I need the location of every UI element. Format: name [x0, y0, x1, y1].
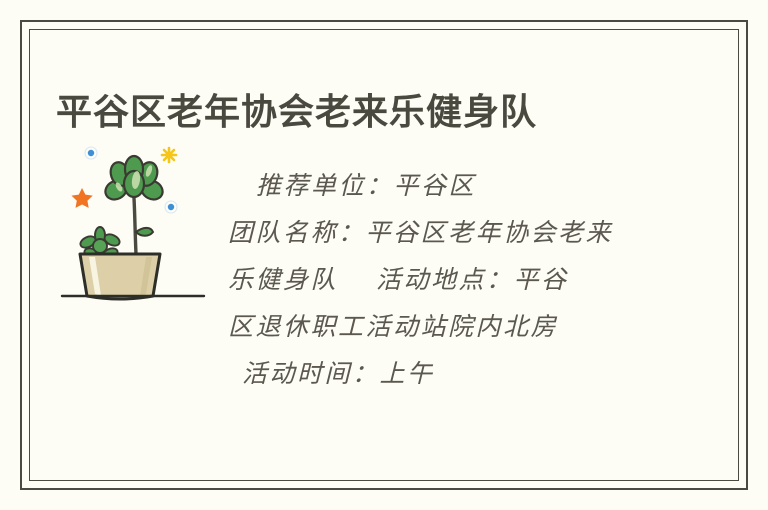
page-title: 平谷区老年协会老来乐健身队 [56, 90, 537, 134]
orange-star-icon [72, 188, 93, 208]
body-line-4: 区退休职工活动站院内北房 [228, 303, 652, 350]
body-line-1: 推荐单位：平谷区 [228, 162, 652, 209]
plant-stem [134, 198, 136, 254]
body-line-2: 团队名称：平谷区老年协会老来 [228, 209, 652, 256]
blue-dot-right-icon [165, 201, 177, 213]
poster-page: 平谷区老年协会老来乐健身队 [0, 0, 768, 510]
body-line-5: 活动时间：上午 [228, 350, 652, 397]
poster-body-text: 推荐单位：平谷区 团队名称：平谷区老年协会老来 乐健身队 活动地点：平谷 区退休… [228, 162, 652, 397]
yellow-starburst-icon [162, 148, 176, 162]
blue-dot-left-icon [85, 147, 97, 159]
stem-side-leaf-right [136, 228, 153, 236]
potted-plant-illustration [56, 136, 216, 306]
body-line-3: 乐健身队 活动地点：平谷 [228, 256, 652, 303]
